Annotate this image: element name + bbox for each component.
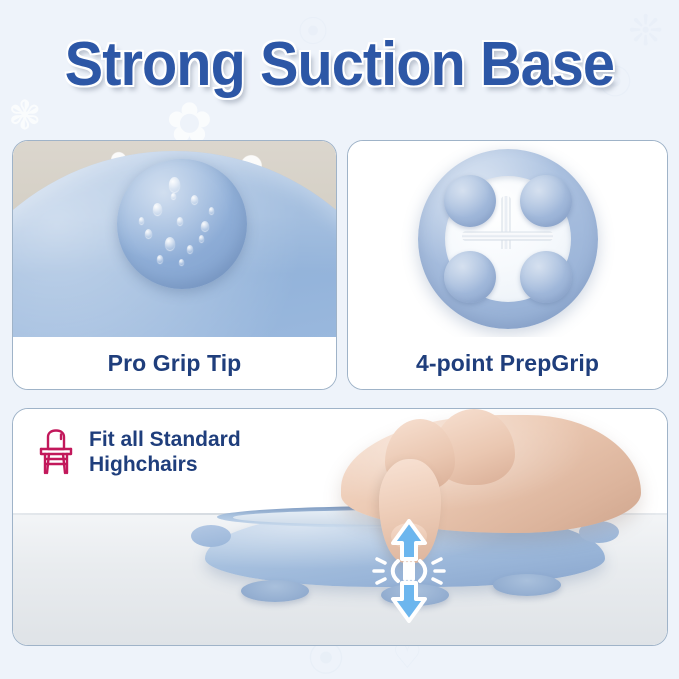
suction-pad-top-right bbox=[520, 175, 572, 227]
highchair-icon bbox=[37, 428, 77, 476]
water-droplets bbox=[117, 159, 247, 289]
panel-caption-pro-grip-tip: Pro Grip Tip bbox=[13, 337, 336, 389]
bottom-watermark-strip: ⦿ ♡ bbox=[0, 646, 679, 679]
pro-grip-tip-image bbox=[13, 141, 336, 337]
suction-base-disc bbox=[418, 149, 598, 329]
bowl-tab-left bbox=[191, 525, 231, 547]
feature-panel-highchair-fit: Fit all Standard Highchairs bbox=[12, 408, 668, 646]
cross-channel-vertical bbox=[502, 196, 511, 249]
cross-channel-horizontal bbox=[462, 232, 553, 241]
suction-pad-bottom-right bbox=[520, 251, 572, 303]
suction-motion-icon bbox=[371, 519, 447, 623]
hand-gripping-bowl bbox=[311, 409, 641, 595]
prepgrip-image bbox=[348, 141, 667, 337]
feature-panel-prepgrip: 4-point PrepGrip bbox=[347, 140, 668, 390]
highchair-fit-line-1: Fit all Standard bbox=[89, 427, 241, 452]
highchair-fit-text: Fit all Standard Highchairs bbox=[89, 427, 241, 477]
pro-grip-tip-tab bbox=[117, 159, 247, 289]
suction-foot-1 bbox=[241, 580, 309, 602]
highchair-fit-image: Fit all Standard Highchairs bbox=[13, 409, 667, 645]
page-title: Strong Suction Base bbox=[65, 29, 614, 100]
highchair-fit-badge: Fit all Standard Highchairs bbox=[37, 427, 241, 477]
panel-caption-prepgrip: 4-point PrepGrip bbox=[348, 337, 667, 389]
watermark-circle: ⦿ bbox=[308, 642, 344, 678]
suction-pad-top-left bbox=[444, 175, 496, 227]
suction-pad-bottom-left bbox=[444, 251, 496, 303]
highchair-fit-line-2: Highchairs bbox=[89, 452, 241, 477]
page-title-container: Strong Suction Base bbox=[0, 24, 679, 104]
feature-panel-pro-grip-tip: Pro Grip Tip bbox=[12, 140, 337, 390]
